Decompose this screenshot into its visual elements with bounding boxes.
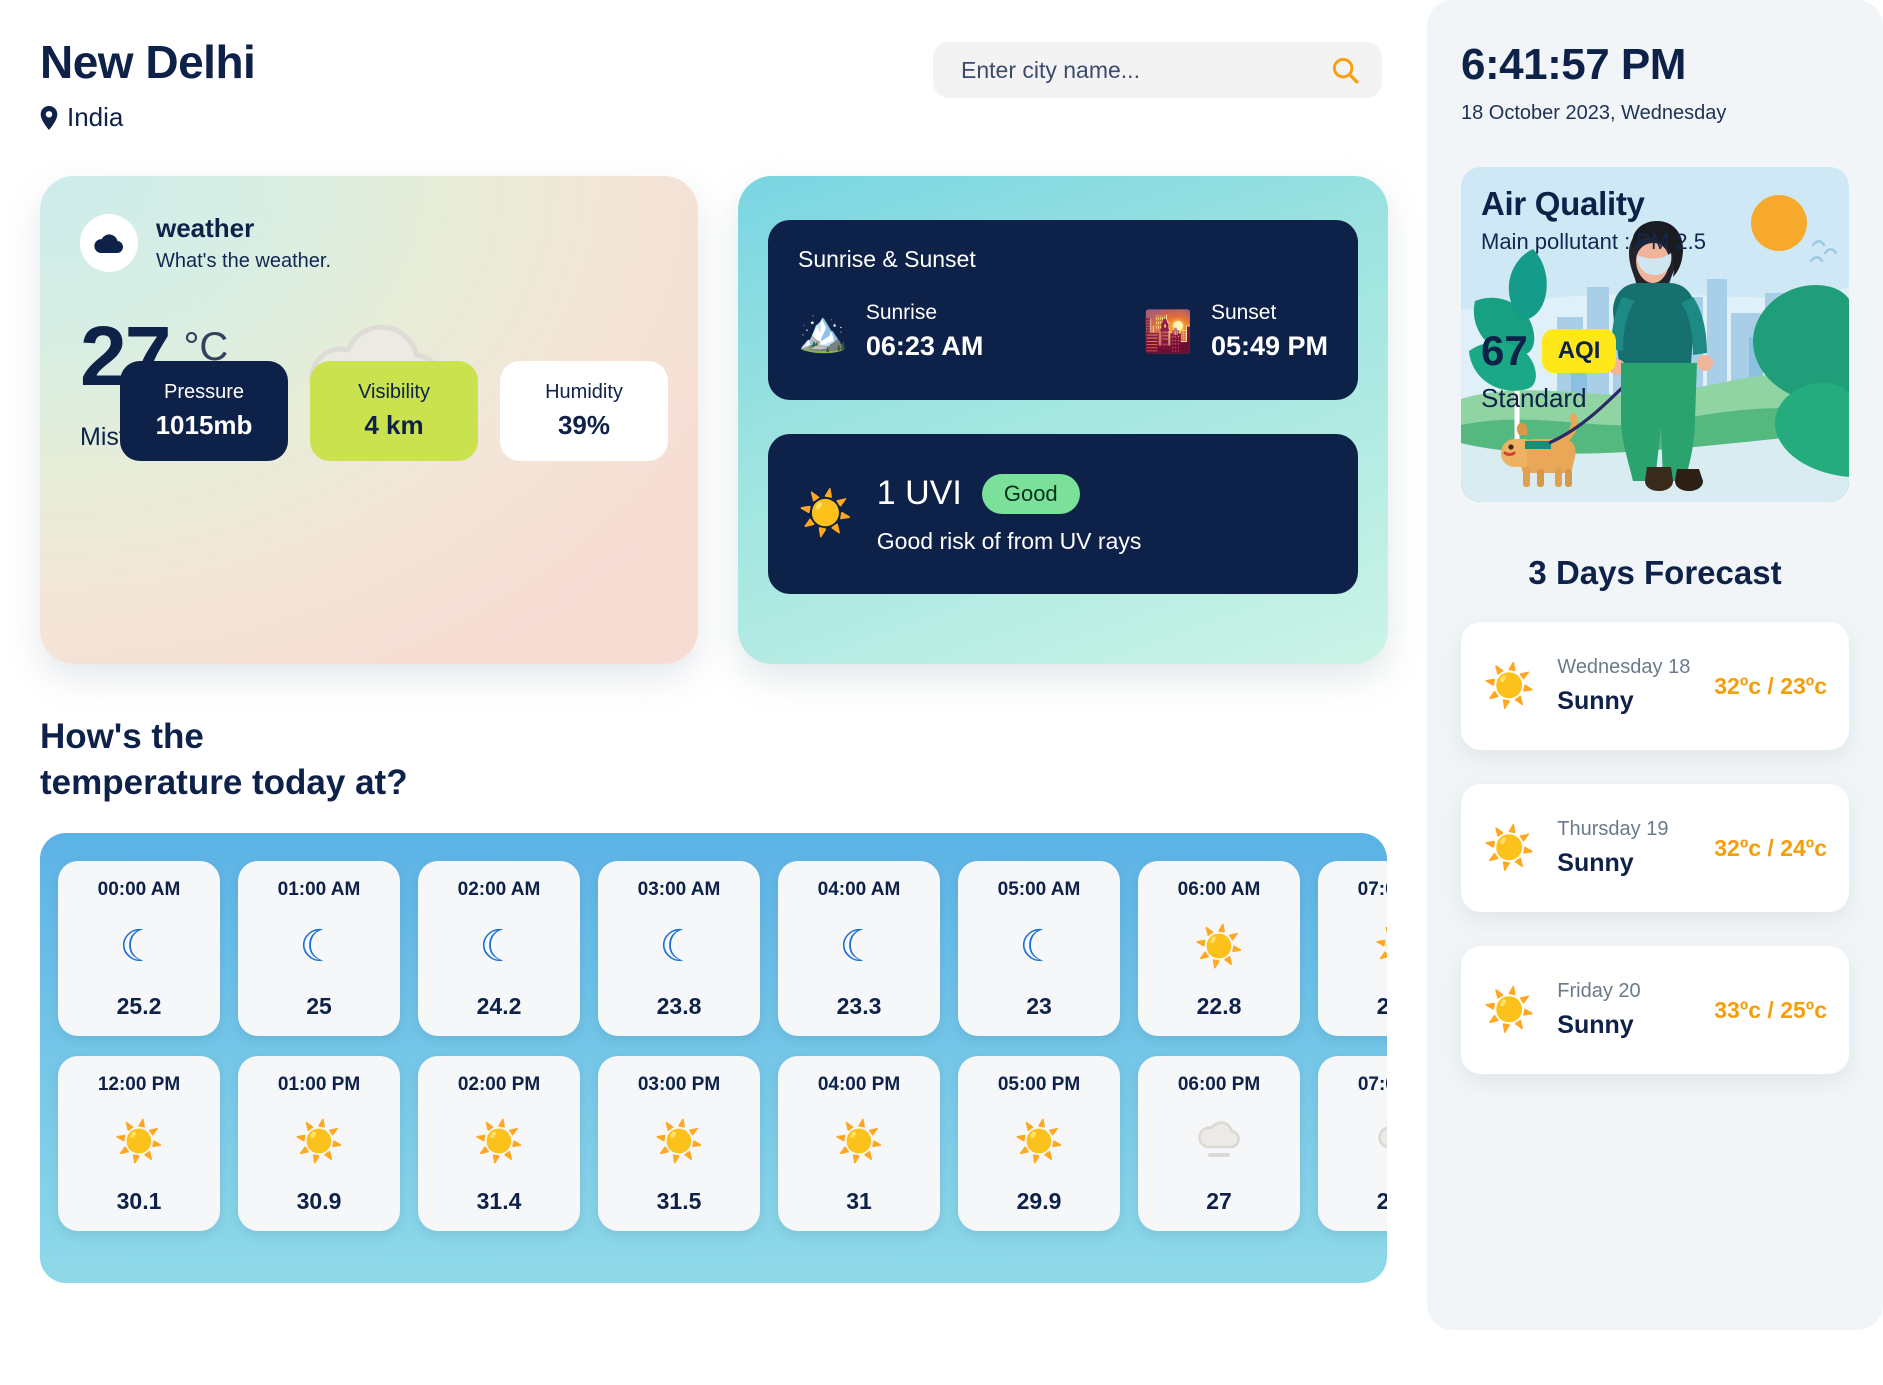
country-row: India (40, 102, 640, 133)
air-quality-index-block: 67 AQI Standard (1481, 327, 1616, 414)
forecast-item-text: Wednesday 18Sunny (1557, 656, 1692, 716)
weather-stats: Pressure 1015mb Visibility 4 km Humidity… (120, 361, 668, 461)
air-quality-index-value: 67 (1481, 327, 1528, 375)
moon-icon: ☾ (839, 925, 878, 969)
stat-humidity-value: 39% (558, 410, 610, 441)
search-input[interactable] (961, 57, 1330, 84)
hourly-cell-temp: 25.2 (117, 993, 162, 1020)
weather-card-title: weather (156, 214, 331, 244)
right-sidebar: 6:41:57 PM 18 October 2023, Wednesday (1427, 0, 1883, 1330)
moon-icon: ☾ (1019, 925, 1058, 969)
forecast-item-day: Friday 20 (1557, 980, 1692, 1003)
sun-uv-card: Sunrise & Sunset 🏔️ Sunrise 06:23 AM 🌇 (738, 176, 1388, 664)
hourly-cell-time: 00:00 AM (98, 879, 181, 901)
sun-icon: ☀️ (834, 1122, 884, 1162)
moon-icon: ☾ (299, 925, 338, 969)
hourly-cell[interactable]: 02:00 AM☾24.2 (418, 861, 580, 1036)
hourly-cell[interactable]: 07:00 AM☀️23.5 (1318, 861, 1387, 1036)
uv-index-panel: ☀️ 1 UVI Good Good risk of from UV rays (768, 434, 1358, 594)
sun-icon: ☀️ (114, 1122, 164, 1162)
hourly-heading-line1: How's the (40, 714, 1427, 760)
sunset-cityscape-icon: 🌇 (1143, 312, 1193, 352)
page-title: New Delhi (40, 38, 640, 86)
hourly-cell-time: 05:00 PM (998, 1074, 1080, 1096)
sun-icon: ☀️ (474, 1122, 524, 1162)
sunrise-sunset-columns: 🏔️ Sunrise 06:23 AM 🌇 Sunset 05:49 PM (798, 301, 1328, 362)
sunrise-sunset-panel: Sunrise & Sunset 🏔️ Sunrise 06:23 AM 🌇 (768, 220, 1358, 400)
hourly-cell-time: 06:00 PM (1178, 1074, 1260, 1096)
hourly-cell-time: 01:00 AM (278, 879, 361, 901)
forecast-item-day: Thursday 19 (1557, 818, 1692, 841)
sun-icon: ☀️ (1483, 989, 1535, 1031)
hourly-section: How's the temperature today at? 00:00 AM… (40, 714, 1427, 1283)
aqi-badge: AQI (1542, 329, 1617, 373)
uv-status-badge: Good (982, 474, 1080, 514)
hourly-cell-temp: 31 (846, 1188, 872, 1215)
sunrise-sunset-title: Sunrise & Sunset (798, 246, 1328, 273)
forecast-item-text: Friday 20Sunny (1557, 980, 1692, 1040)
hourly-cell-temp: 23.3 (837, 993, 882, 1020)
hourly-cell-time: 03:00 PM (638, 1074, 720, 1096)
sun-icon: ☀️ (654, 1122, 704, 1162)
sunrise-time: 06:23 AM (866, 331, 984, 362)
hourly-cell-time: 02:00 AM (458, 879, 541, 901)
stat-humidity-label: Humidity (545, 381, 623, 404)
hourly-cell-time: 12:00 PM (98, 1074, 180, 1096)
moon-icon: ☾ (659, 925, 698, 969)
sunrise-label: Sunrise (866, 301, 984, 325)
search-bar (933, 42, 1382, 98)
mist-cloud-icon (1372, 1117, 1387, 1168)
hourly-cell[interactable]: 04:00 AM☾23.3 (778, 861, 940, 1036)
hourly-cell-time: 07:00 AM (1358, 879, 1387, 901)
hourly-cell[interactable]: 05:00 PM☀️29.9 (958, 1056, 1120, 1231)
cloud-icon (93, 231, 125, 255)
hourly-cell[interactable]: 01:00 PM☀️30.9 (238, 1056, 400, 1231)
current-date: 18 October 2023, Wednesday (1461, 102, 1849, 125)
sunset-block: 🌇 Sunset 05:49 PM (1143, 301, 1328, 362)
uv-value: 1 UVI (877, 474, 962, 513)
air-quality-pollutant: Main pollutant : PM 2.5 (1481, 229, 1706, 255)
sun-icon: ☀️ (1374, 927, 1387, 967)
stat-pressure-label: Pressure (164, 381, 244, 404)
air-quality-standard: Standard (1481, 383, 1616, 414)
hourly-cell[interactable]: 00:00 AM☾25.2 (58, 861, 220, 1036)
current-weather-card: weather What's the weather. 27 °C Mist (40, 176, 698, 664)
location-block: New Delhi India (40, 38, 640, 133)
location-pin-icon (40, 106, 58, 130)
hourly-cell-temp: 23.5 (1377, 993, 1387, 1020)
country-label: India (67, 102, 123, 133)
hourly-forecast-container[interactable]: 00:00 AM☾25.201:00 AM☾2502:00 AM☾24.203:… (40, 833, 1387, 1283)
forecast-item-condition: Sunny (1557, 1011, 1692, 1040)
sun-icon: ☀️ (1014, 1122, 1064, 1162)
hourly-cell[interactable]: 06:00 AM☀️22.8 (1138, 861, 1300, 1036)
hourly-cell-temp: 24.2 (477, 993, 522, 1020)
stat-visibility-label: Visibility (358, 381, 430, 404)
hourly-cell-time: 07:00 PM (1358, 1074, 1387, 1096)
current-time: 6:41:57 PM (1461, 40, 1849, 90)
forecast-item-temps: 32ºc / 23ºc (1714, 673, 1827, 700)
hourly-cell[interactable]: 03:00 AM☾23.8 (598, 861, 760, 1036)
moon-icon: ☾ (119, 925, 158, 969)
weather-card-subtitle: What's the weather. (156, 250, 331, 273)
hourly-heading: How's the temperature today at? (40, 714, 1427, 805)
search-box[interactable] (933, 42, 1382, 98)
hourly-cell-temp: 30.1 (117, 1188, 162, 1215)
hourly-cell[interactable]: 02:00 PM☀️31.4 (418, 1056, 580, 1231)
air-quality-text: Air Quality Main pollutant : PM 2.5 (1481, 185, 1706, 255)
main-panel: New Delhi India (0, 0, 1427, 1385)
hourly-heading-line2: temperature today at? (40, 760, 1427, 806)
forecast-item[interactable]: ☀️Friday 20Sunny33ºc / 25ºc (1461, 946, 1849, 1074)
stat-pressure-value: 1015mb (156, 410, 253, 441)
hourly-row-am: 00:00 AM☾25.201:00 AM☾2502:00 AM☾24.203:… (58, 861, 1387, 1036)
air-quality-card: Air Quality Main pollutant : PM 2.5 67 A… (1461, 167, 1849, 502)
sun-icon: ☀️ (1194, 927, 1244, 967)
stat-pressure: Pressure 1015mb (120, 361, 288, 461)
forecast-item-temps: 33ºc / 25ºc (1714, 997, 1827, 1024)
air-quality-title: Air Quality (1481, 185, 1706, 223)
hourly-cell[interactable]: 12:00 PM☀️30.1 (58, 1056, 220, 1231)
sun-icon: ☀️ (1483, 827, 1535, 869)
hourly-row-pm: 12:00 PM☀️30.101:00 PM☀️30.902:00 PM☀️31… (58, 1056, 1387, 1231)
sunrise-block: 🏔️ Sunrise 06:23 AM (798, 301, 983, 362)
moon-icon: ☾ (479, 925, 518, 969)
forecast-item[interactable]: ☀️Wednesday 18Sunny32ºc / 23ºc (1461, 622, 1849, 750)
forecast-list: ☀️Wednesday 18Sunny32ºc / 23ºc☀️Thursday… (1461, 622, 1849, 1074)
mist-cloud-icon (1192, 1117, 1246, 1168)
hourly-cell[interactable]: 07:00 PM26.4 (1318, 1056, 1387, 1231)
hourly-cell-time: 06:00 AM (1178, 879, 1261, 901)
forecast-item[interactable]: ☀️Thursday 19Sunny32ºc / 24ºc (1461, 784, 1849, 912)
hourly-cell-temp: 23 (1026, 993, 1052, 1020)
sunset-label: Sunset (1211, 301, 1328, 325)
sunrise-mountain-icon: 🏔️ (798, 312, 848, 352)
hourly-cell-temp: 31.5 (657, 1188, 702, 1215)
hourly-cell-temp: 30.9 (297, 1188, 342, 1215)
hourly-cell-time: 02:00 PM (458, 1074, 540, 1096)
hourly-cell-time: 04:00 PM (818, 1074, 900, 1096)
hourly-cell-temp: 31.4 (477, 1188, 522, 1215)
stat-humidity: Humidity 39% (500, 361, 668, 461)
hourly-cell-time: 05:00 AM (998, 879, 1081, 901)
sunset-time: 05:49 PM (1211, 331, 1328, 362)
hourly-cell-time: 04:00 AM (818, 879, 901, 901)
sun-icon: ☀️ (1483, 665, 1535, 707)
forecast-title: 3 Days Forecast (1461, 554, 1849, 592)
search-icon[interactable] (1330, 55, 1360, 85)
sun-icon: ☀️ (294, 1122, 344, 1162)
forecast-item-condition: Sunny (1557, 687, 1692, 716)
hourly-cell-temp: 26.4 (1377, 1188, 1387, 1215)
hourly-cell-time: 03:00 AM (638, 879, 721, 901)
stat-visibility: Visibility 4 km (310, 361, 478, 461)
weather-dashboard: New Delhi India (0, 0, 1883, 1385)
uv-sun-icon: ☀️ (798, 492, 853, 536)
hourly-cell[interactable]: 04:00 PM☀️31 (778, 1056, 940, 1231)
hourly-cell-temp: 27 (1206, 1188, 1232, 1215)
hourly-cell-temp: 23.8 (657, 993, 702, 1020)
hourly-cell-temp: 25 (306, 993, 332, 1020)
weather-card-body: 27 °C Mist Pressure 1015mb (80, 317, 658, 497)
summary-card-row: weather What's the weather. 27 °C Mist (40, 176, 1427, 664)
hourly-cell-temp: 29.9 (1017, 1188, 1062, 1215)
weather-card-header: weather What's the weather. (80, 214, 658, 273)
uv-description: Good risk of from UV rays (877, 528, 1142, 555)
hourly-cell[interactable]: 01:00 AM☾25 (238, 861, 400, 1036)
stat-visibility-value: 4 km (364, 410, 423, 441)
air-quality-index-row: 67 AQI (1481, 327, 1616, 375)
forecast-item-text: Thursday 19Sunny (1557, 818, 1692, 878)
uv-top-row: 1 UVI Good (877, 474, 1142, 514)
hourly-cell[interactable]: 05:00 AM☾23 (958, 861, 1120, 1036)
hourly-cell-time: 01:00 PM (278, 1074, 360, 1096)
forecast-item-temps: 32ºc / 24ºc (1714, 835, 1827, 862)
forecast-item-day: Wednesday 18 (1557, 656, 1692, 679)
hourly-cell[interactable]: 06:00 PM27 (1138, 1056, 1300, 1231)
hourly-cell-temp: 22.8 (1197, 993, 1242, 1020)
forecast-item-condition: Sunny (1557, 849, 1692, 878)
weather-badge (80, 214, 138, 272)
hourly-cell[interactable]: 03:00 PM☀️31.5 (598, 1056, 760, 1231)
